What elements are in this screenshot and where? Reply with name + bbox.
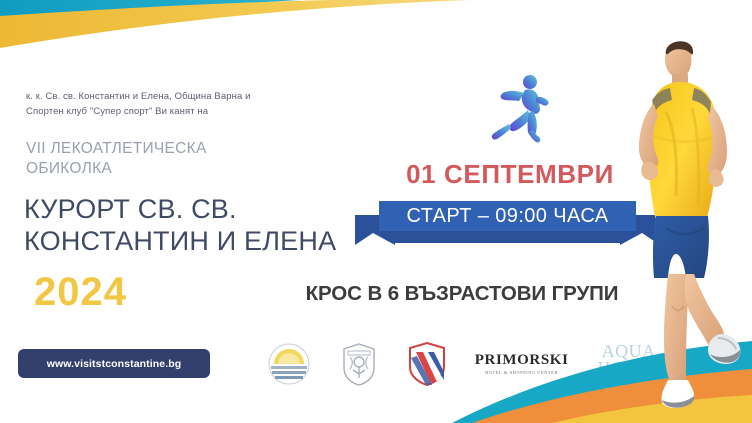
super-sport-club-shield-logo [408,342,446,386]
page-title: КУРОРТ СВ. СВ. КОНСТАНТИН И ЕЛЕНА [24,194,384,257]
title-line-1: КУРОРТ СВ. СВ. [24,194,384,226]
photo-runner-image [614,16,752,423]
primorski-logo-sublabel: HOTEL & SHOPPING CENTER [475,371,569,375]
invite-line-2: Спортен клуб "Супер спорт" Ви канят на [26,105,326,120]
title-line-2: КОНСТАНТИН И ЕЛЕНА [24,226,384,258]
website-url-label: www.visitstconstantine.bg [47,358,182,370]
website-url-button[interactable]: www.visitstconstantine.bg [18,349,210,378]
sponsor-logos: PRIMORSKI HOTEL & SHOPPING CENTER AQUA H… [268,338,660,390]
invitation-text: к. к. Св. св. Константин и Елена, Община… [26,90,326,119]
resort-sun-sea-emblem-logo [268,343,310,385]
invite-line-1: к. к. Св. св. Константин и Елена, Община… [26,90,326,105]
race-poster: к. к. Св. св. Константин и Елена, Община… [0,0,752,423]
event-date: 01 СЕПТЕМВРИ [385,160,635,189]
subtitle-line-2: ОБИКОЛКА [26,159,326,179]
event-year: 2024 [34,272,127,312]
runner-silhouette-icon [478,66,562,144]
age-groups-text: КРОС В 6 ВЪЗРАСТОВИ ГРУПИ [262,282,662,306]
primorski-logo-label: PRIMORSKI [475,353,569,368]
primorski-logo: PRIMORSKI HOTEL & SHOPPING CENTER [475,353,569,375]
varna-municipality-crest-logo [339,342,379,386]
event-subtitle: VII ЛЕКОАТЛЕТИЧЕСКА ОБИКОЛКА [26,139,326,179]
subtitle-line-1: VII ЛЕКОАТЛЕТИЧЕСКА [26,139,326,159]
